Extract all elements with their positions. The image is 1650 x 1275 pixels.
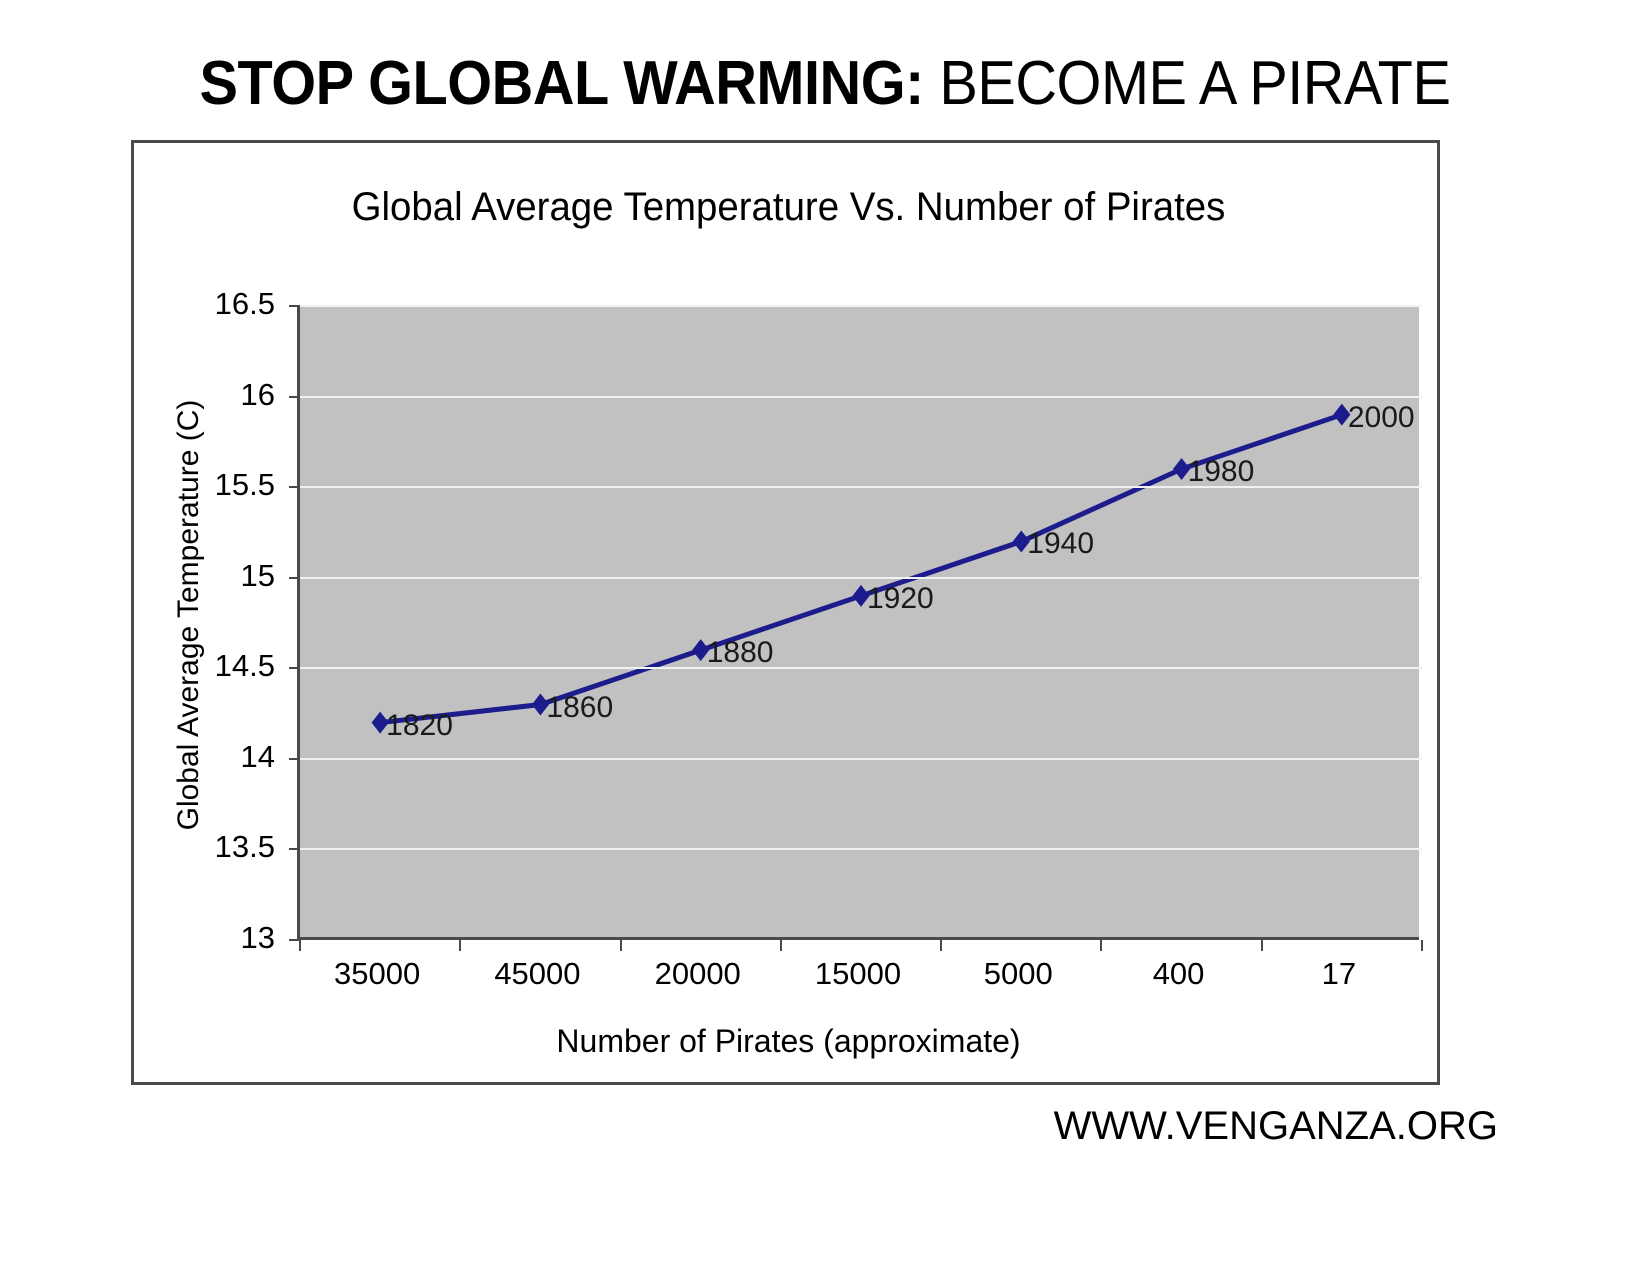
data-point-label: 1860 — [546, 691, 613, 725]
x-axis-tick — [780, 940, 782, 951]
x-axis-tick — [1100, 940, 1102, 951]
data-point-label: 1820 — [386, 709, 453, 743]
series-line-chart — [300, 306, 1422, 940]
y-axis-tick — [289, 486, 300, 488]
x-axis-tick — [1421, 940, 1423, 951]
gridline — [300, 305, 1422, 307]
y-axis-tick — [289, 577, 300, 579]
y-axis-tick — [289, 305, 300, 307]
headline-bold-part: STOP GLOBAL WARMING: — [200, 49, 924, 118]
chart-frame: Global Average Temperature Vs. Number of… — [131, 140, 1440, 1085]
x-axis-tick-label: 45000 — [447, 956, 627, 992]
x-axis-title: Number of Pirates (approximate) — [134, 1023, 1443, 1060]
y-axis-tick-label: 13.5 — [165, 829, 275, 865]
gridline — [300, 848, 1422, 850]
series-markers — [372, 404, 1351, 734]
y-axis-tick-label: 14.5 — [165, 648, 275, 684]
headline-regular-part: BECOME A PIRATE — [924, 49, 1451, 118]
x-axis-tick — [1261, 940, 1263, 951]
y-axis-title: Global Average Temperature (C) — [172, 335, 206, 895]
y-axis-tick — [289, 758, 300, 760]
y-axis-tick-label: 14 — [165, 739, 275, 775]
gridline — [300, 577, 1422, 579]
data-point-label: 1980 — [1188, 455, 1255, 489]
x-axis-tick-label: 400 — [1089, 956, 1269, 992]
poster-headline: STOP GLOBAL WARMING: BECOME A PIRATE — [58, 48, 1593, 120]
x-axis-tick — [299, 940, 301, 951]
plot-area — [297, 306, 1419, 940]
x-axis-tick-label: 20000 — [608, 956, 788, 992]
y-axis-tick — [289, 396, 300, 398]
x-axis-tick — [620, 940, 622, 951]
x-axis-tick — [940, 940, 942, 951]
data-point-label: 2000 — [1348, 401, 1415, 435]
data-point-label: 1940 — [1027, 527, 1094, 561]
footer-url: WWW.VENGANZA.ORG — [1054, 1104, 1498, 1149]
x-axis-tick — [459, 940, 461, 951]
y-axis-tick — [289, 667, 300, 669]
y-axis-tick-label: 15.5 — [165, 467, 275, 503]
y-axis-tick-label: 13 — [165, 920, 275, 956]
data-point-label: 1880 — [707, 636, 774, 670]
x-axis-tick-label: 17 — [1249, 956, 1429, 992]
x-axis-tick-label: 35000 — [287, 956, 467, 992]
gridline — [300, 396, 1422, 398]
gridline — [300, 758, 1422, 760]
chart-title: Global Average Temperature Vs. Number of… — [160, 185, 1417, 230]
y-axis-tick-label: 16 — [165, 377, 275, 413]
x-axis-tick-label: 15000 — [768, 956, 948, 992]
y-axis-tick-label: 16.5 — [165, 286, 275, 322]
gridline — [300, 667, 1422, 669]
data-point-label: 1920 — [867, 582, 934, 616]
y-axis-tick-label: 15 — [165, 558, 275, 594]
y-axis-tick — [289, 848, 300, 850]
x-axis-tick-label: 5000 — [928, 956, 1108, 992]
